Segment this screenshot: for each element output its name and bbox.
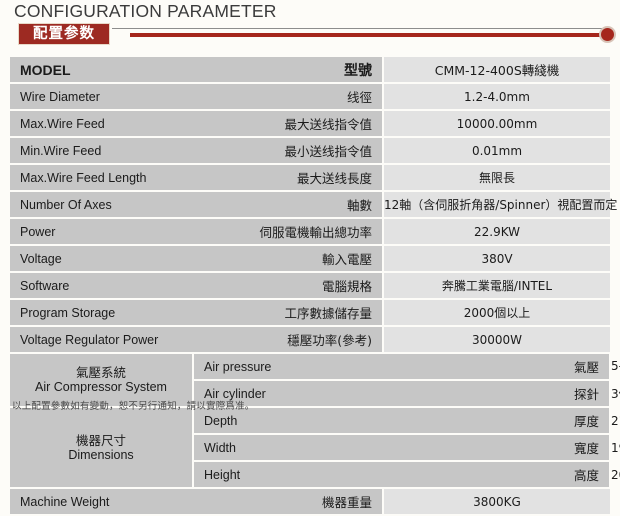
table-row: Voltage 輸入電壓 380V bbox=[10, 245, 610, 272]
table-row: Voltage Regulator Power 穩壓功率(參考) 30000W bbox=[10, 326, 610, 353]
table-row: MODEL 型號 CMM-12-400S轉綫機 bbox=[10, 57, 610, 83]
sub-row-label-en: Width bbox=[193, 434, 383, 461]
row-label-en: MODEL bbox=[10, 57, 193, 83]
row-label-zh: 最大送线指令值 bbox=[193, 110, 383, 137]
page-header: CONFIGURATION PARAMETER 配置参数 bbox=[0, 0, 620, 55]
row-label-zh: 機器重量 bbox=[193, 488, 383, 515]
row-value: 1.2-4.0mm bbox=[383, 83, 610, 110]
row-label-en: Number Of Axes bbox=[10, 191, 193, 218]
footnote-disclaimer: 以上配置參數如有變動，恕不另行通知，請以實際爲准。 bbox=[12, 398, 255, 412]
row-label-en: Program Storage bbox=[10, 299, 193, 326]
row-label-zh: 线徑 bbox=[193, 83, 383, 110]
row-value: 22.9KW bbox=[383, 218, 610, 245]
row-label-zh: 軸數 bbox=[193, 191, 383, 218]
row-label-en: Min.Wire Feed bbox=[10, 137, 193, 164]
sub-row-label-zh: 氣壓 bbox=[383, 353, 610, 380]
table-row: Max.Wire Feed 最大送线指令值 10000.00mm bbox=[10, 110, 610, 137]
row-value: 3800KG bbox=[383, 488, 610, 515]
row-value: CMM-12-400S轉綫機 bbox=[383, 57, 610, 83]
page-title: CONFIGURATION PARAMETER bbox=[14, 1, 277, 22]
row-label-en: Wire Diameter bbox=[10, 83, 193, 110]
sub-row-label-zh: 高度 bbox=[383, 461, 610, 488]
spec-sheet-page: CONFIGURATION PARAMETER 配置参数 MODEL 型號 CM… bbox=[0, 0, 620, 419]
group-label-zh: 氣壓系統 bbox=[10, 365, 192, 380]
row-label-en: Max.Wire Feed Length bbox=[10, 164, 193, 191]
row-label-en: Voltage bbox=[10, 245, 193, 272]
group-label-en: Air Compressor System bbox=[10, 380, 192, 395]
sub-row-label-zh: 探針 bbox=[383, 380, 610, 407]
table-row: Program Storage 工序數據儲存量 2000個以上 bbox=[10, 299, 610, 326]
row-value: 380V bbox=[383, 245, 610, 272]
header-dot-icon bbox=[599, 26, 616, 43]
table-row: Power 伺服電機輸出總功率 22.9KW bbox=[10, 218, 610, 245]
table-row: Max.Wire Feed Length 最大送线長度 無限長 bbox=[10, 164, 610, 191]
table-row: Machine Weight 機器重量 3800KG bbox=[10, 488, 610, 515]
table-row: Min.Wire Feed 最小送线指令值 0.01mm bbox=[10, 137, 610, 164]
row-value: 0.01mm bbox=[383, 137, 610, 164]
sub-row-label-zh: 寬度 bbox=[383, 434, 610, 461]
table-row: Wire Diameter 线徑 1.2-4.0mm bbox=[10, 83, 610, 110]
sub-row-label-en: Air pressure bbox=[193, 353, 383, 380]
row-label-en: Power bbox=[10, 218, 193, 245]
row-value: 2000個以上 bbox=[383, 299, 610, 326]
table-row: Number Of Axes 軸數 12軸（含伺服折角器/Spinner）視配置… bbox=[10, 191, 610, 218]
table-row-group: 氣壓系統 Air Compressor System Air pressure … bbox=[10, 353, 610, 380]
row-value: 奔騰工業電腦/INTEL bbox=[383, 272, 610, 299]
group-label-zh: 機器尺寸 bbox=[10, 433, 192, 448]
row-label-en: Voltage Regulator Power bbox=[10, 326, 193, 353]
row-label-zh: 輸入電壓 bbox=[193, 245, 383, 272]
row-label-zh: 電腦規格 bbox=[193, 272, 383, 299]
row-label-zh: 型號 bbox=[193, 57, 383, 83]
row-label-en: Machine Weight bbox=[10, 488, 193, 515]
sub-row-label-zh: 厚度 bbox=[383, 407, 610, 434]
section-badge: 配置参数 bbox=[18, 23, 110, 45]
row-label-zh: 最小送线指令值 bbox=[193, 137, 383, 164]
row-value: 10000.00mm bbox=[383, 110, 610, 137]
table-row: Software 電腦規格 奔騰工業電腦/INTEL bbox=[10, 272, 610, 299]
sub-row-label-en: Height bbox=[193, 461, 383, 488]
spec-table-body: MODEL 型號 CMM-12-400S轉綫機 Wire Diameter 线徑… bbox=[10, 57, 610, 515]
group-label: 機器尺寸 Dimensions bbox=[10, 407, 193, 488]
row-label-en: Max.Wire Feed bbox=[10, 110, 193, 137]
header-gray-rule bbox=[112, 28, 610, 29]
row-label-zh: 伺服電機輸出總功率 bbox=[193, 218, 383, 245]
specification-table: MODEL 型號 CMM-12-400S轉綫機 Wire Diameter 线徑… bbox=[10, 57, 610, 516]
row-label-zh: 最大送线長度 bbox=[193, 164, 383, 191]
group-label-en: Dimensions bbox=[10, 448, 192, 463]
row-label-zh: 工序數據儲存量 bbox=[193, 299, 383, 326]
header-red-rule bbox=[130, 33, 602, 37]
row-value: 12軸（含伺服折角器/Spinner）視配置而定 bbox=[383, 191, 610, 218]
row-value: 無限長 bbox=[383, 164, 610, 191]
row-label-en: Software bbox=[10, 272, 193, 299]
row-label-zh: 穩壓功率(參考) bbox=[193, 326, 383, 353]
row-value: 30000W bbox=[383, 326, 610, 353]
